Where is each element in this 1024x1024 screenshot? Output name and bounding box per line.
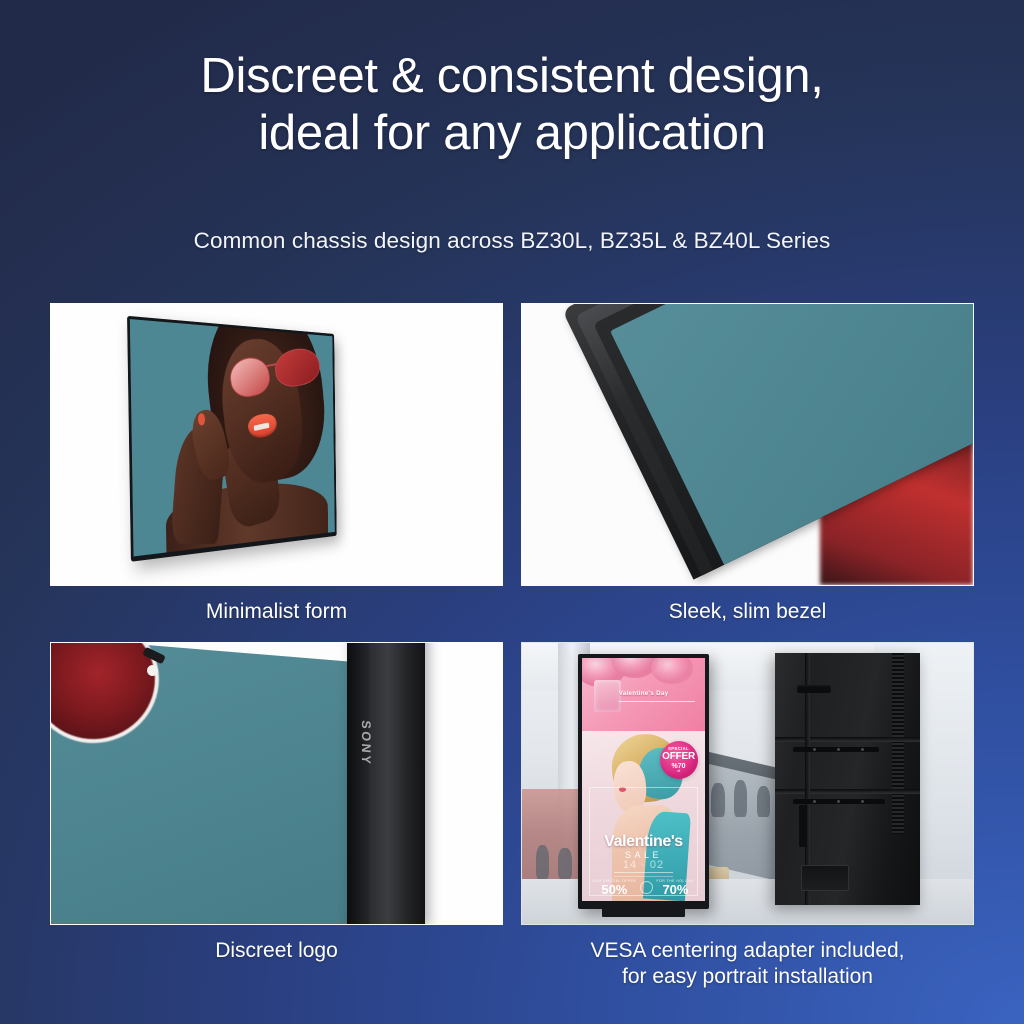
bezel-right-edge [347, 642, 425, 925]
bezel-inner-face [347, 642, 369, 925]
ventilation-grille [892, 653, 904, 834]
offer-item: FOR THE HOLIDAY 70% [657, 879, 695, 896]
feature-cell-vesa-centering-adapter: Valentine's Day [521, 642, 974, 991]
sale-date: 14 · 02 [587, 859, 700, 871]
panel-seam [775, 737, 920, 742]
screen-content-red [963, 303, 974, 342]
signage-sale-block: Valentine's SALE 14 · 02 OUR SPECIAL OFF… [587, 833, 700, 896]
display-screen [130, 319, 335, 556]
signage-main-panel: SPECIAL OFFER %70 off Valentine's SALE 1… [582, 731, 705, 901]
sale-ornament [614, 872, 673, 877]
rose-graphic [651, 658, 693, 684]
headline-line-1: Discreet & consistent design, [0, 48, 1024, 105]
page-subtitle: Common chassis design across BZ30L, BZ35… [0, 228, 1024, 254]
caption-line-1: Minimalist form [50, 599, 503, 626]
caption-vesa-centering-adapter: VESA centering adapter included, for eas… [521, 925, 974, 991]
shopper-figure [536, 845, 550, 879]
product-image-discreet-logo: SONY [50, 642, 503, 925]
caption-discreet-logo: Discreet logo [50, 925, 503, 965]
shopper-figure [757, 786, 771, 817]
offer-item: OUR SPECIAL OFFER 50% [593, 879, 637, 896]
feature-cell-minimalist-form: Minimalist form [50, 303, 503, 626]
display-rear-panel [775, 653, 920, 905]
sale-offers: OUR SPECIAL OFFER 50% FOR THE HOLIDAY 70… [587, 879, 700, 896]
mount-screw [813, 800, 816, 803]
mount-screw [837, 800, 840, 803]
page-title: Discreet & consistent design, ideal for … [0, 48, 1024, 162]
shopper-figure [711, 783, 725, 817]
sunglasses-right-lens [272, 346, 322, 391]
mount-screw [861, 748, 864, 751]
shopper-figure [734, 780, 748, 817]
product-image-minimalist-form [50, 303, 503, 586]
product-image-sleek-slim-bezel [521, 303, 974, 586]
display-panel [127, 316, 337, 562]
caption-sleek-slim-bezel: Sleek, slim bezel [521, 586, 974, 626]
feature-row-bottom: SONY Discreet logo [50, 642, 974, 991]
product-image-vesa-centering-adapter: Valentine's Day [521, 642, 974, 925]
offer-divider-icon [640, 881, 653, 894]
sony-logo: SONY [359, 719, 373, 766]
badge-line-2: OFFER [662, 752, 695, 762]
portrait-signage-display: Valentine's Day [578, 654, 709, 909]
cable-slot [799, 805, 807, 847]
offer-value: 70% [657, 883, 695, 896]
badge-line-4: off [677, 770, 681, 773]
caption-line-2: for easy portrait installation [521, 964, 974, 991]
mount-screw [837, 748, 840, 751]
mount-screw [813, 748, 816, 751]
terminal-cover [801, 865, 849, 891]
offer-value: 50% [593, 883, 637, 896]
connector-port [797, 685, 831, 693]
signage-base [602, 907, 686, 917]
mount-screw [861, 800, 864, 803]
caption-line-1: VESA centering adapter included, [521, 938, 974, 965]
shopper-figure [558, 848, 572, 879]
headline-line-2: ideal for any application [0, 105, 1024, 162]
slide-background: Discreet & consistent design, ideal for … [0, 0, 1024, 1024]
panel-seam [775, 789, 920, 794]
signage-header-band: Valentine's Day [582, 658, 705, 731]
caption-minimalist-form: Minimalist form [50, 586, 503, 626]
caption-line-1: Sleek, slim bezel [521, 599, 974, 626]
feature-cell-sleek-slim-bezel: Sleek, slim bezel [521, 303, 974, 626]
feature-row-top: Minimalist form Sle [50, 303, 974, 626]
signage-screen: Valentine's Day [582, 658, 705, 901]
sunglasses-left-lens [227, 355, 272, 401]
feature-grid: Minimalist form Sle [50, 303, 974, 991]
model-lips [619, 787, 626, 792]
feature-cell-discreet-logo: SONY Discreet logo [50, 642, 503, 991]
signage-header-text: Valentine's Day [582, 690, 705, 697]
vesa-mount-bracket [793, 747, 879, 752]
special-offer-badge: SPECIAL OFFER %70 off [660, 741, 698, 779]
sale-title: Valentine's [587, 833, 700, 851]
signage-header-rule [619, 701, 695, 702]
caption-line-1: Discreet logo [50, 938, 503, 965]
